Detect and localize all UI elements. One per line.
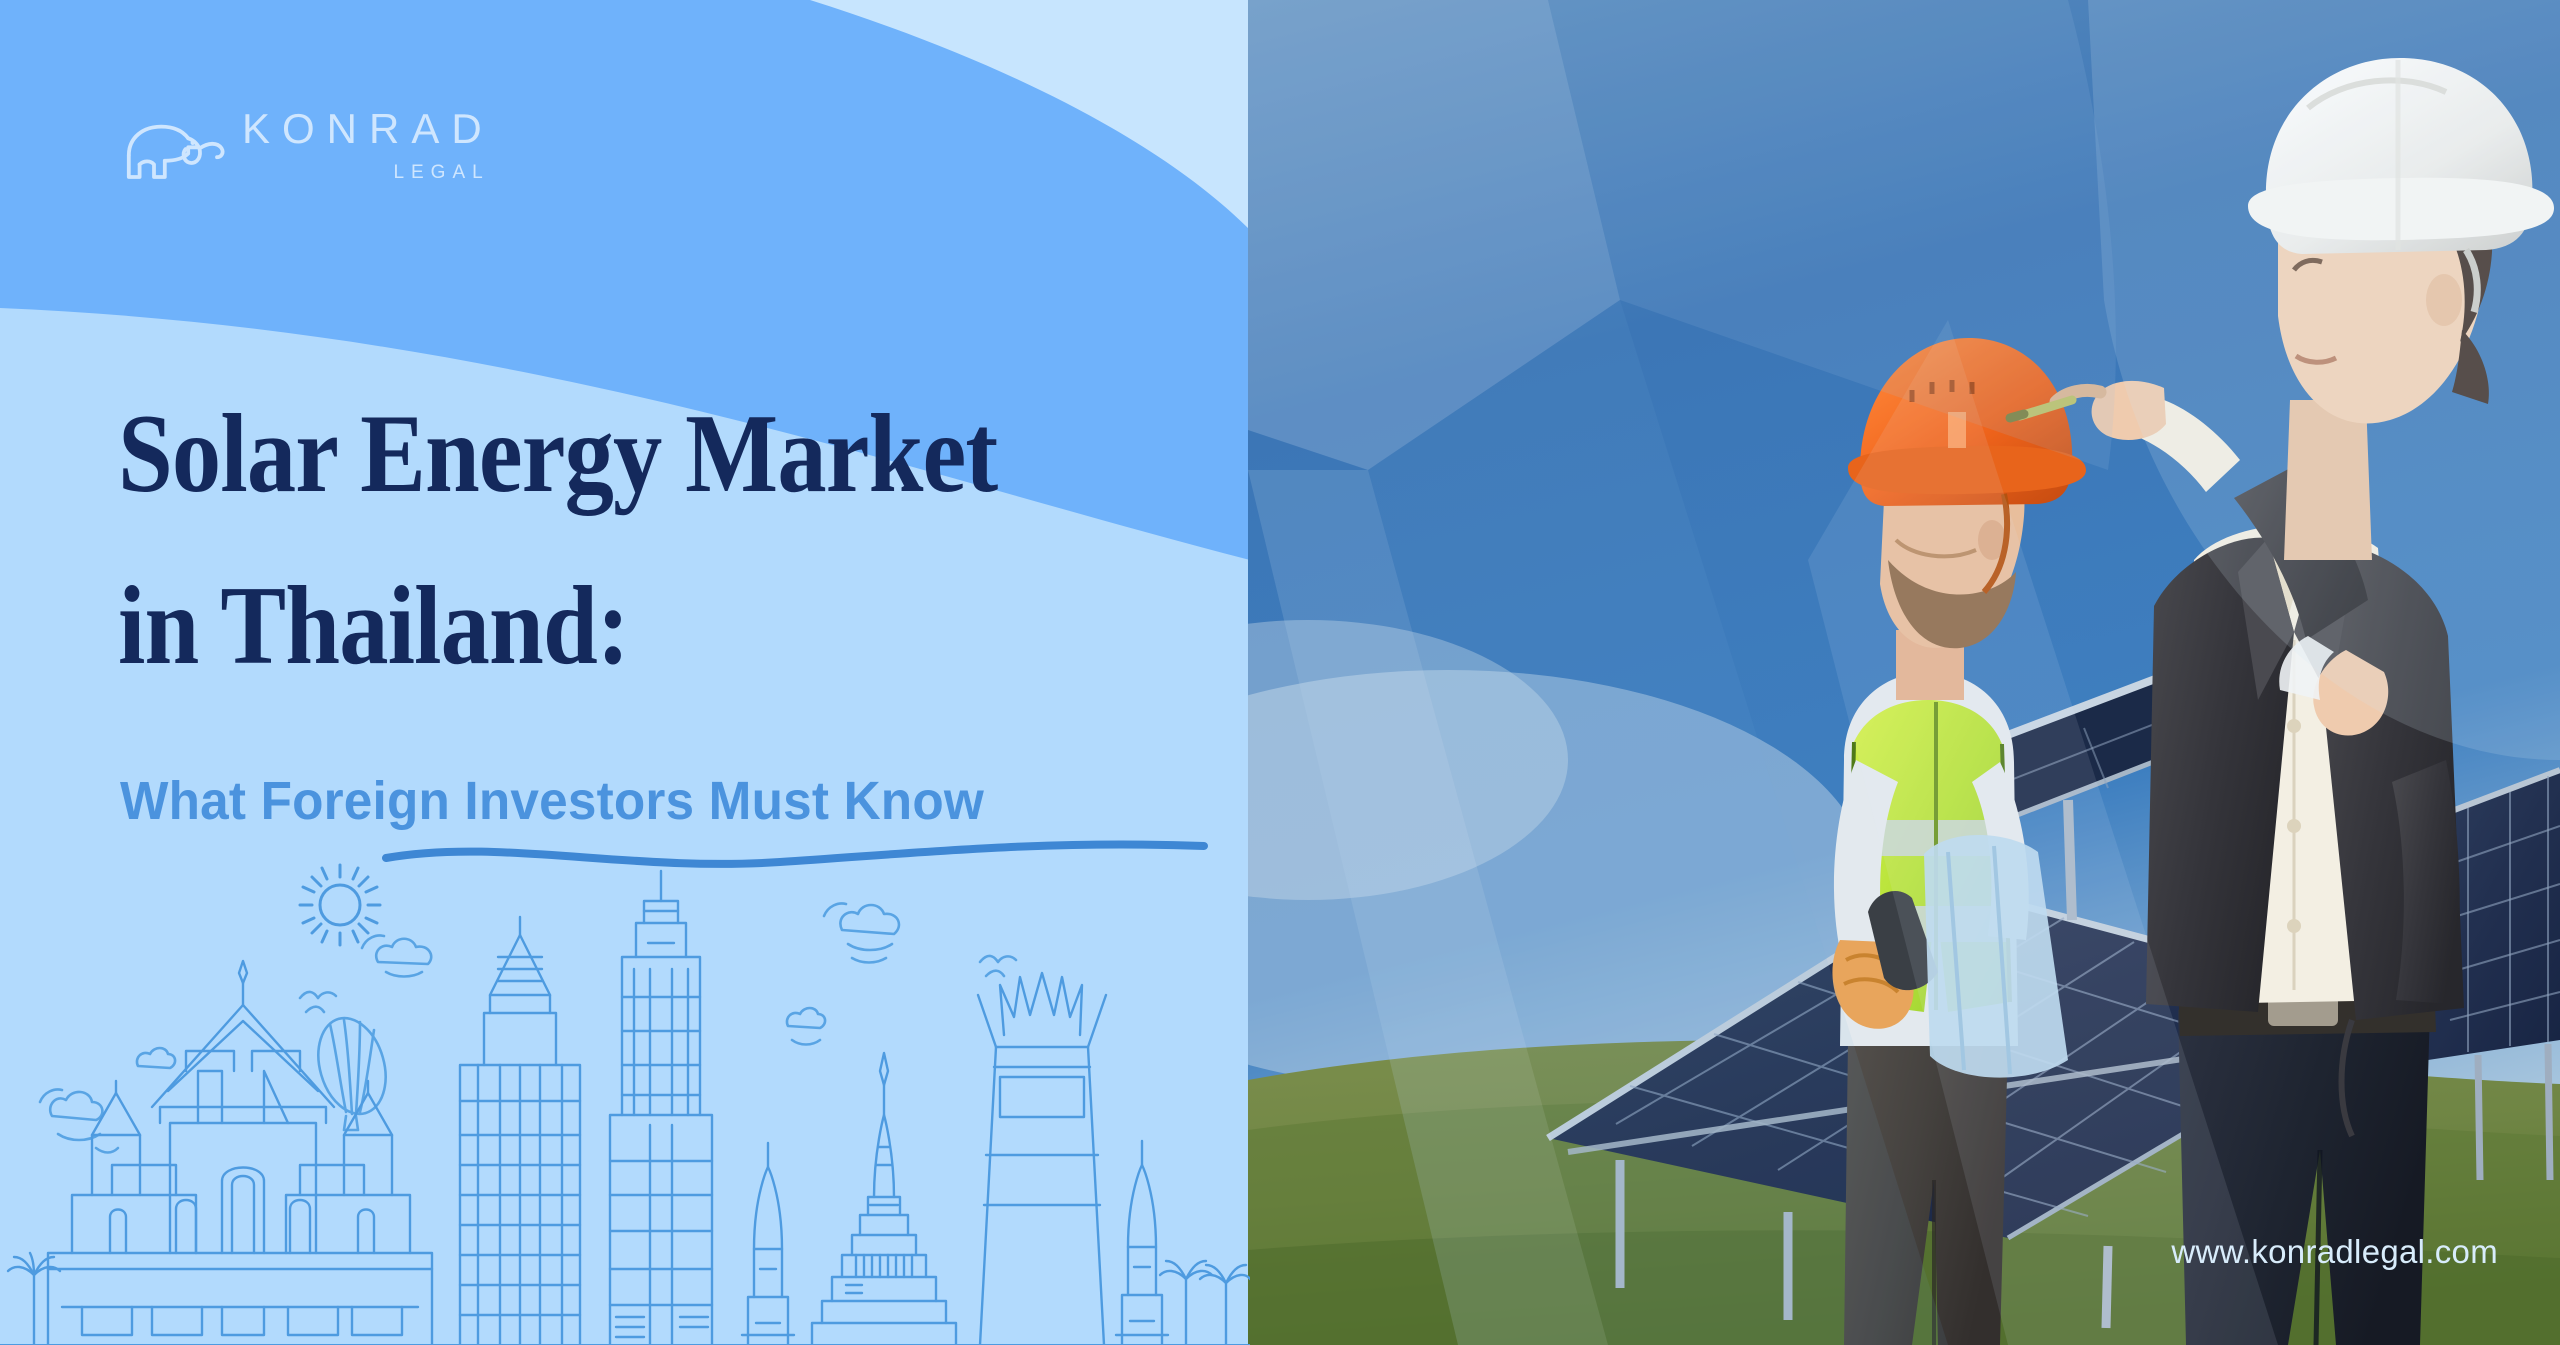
- bangkok-skyline-illustration: [0, 865, 1250, 1345]
- banner-root: KONRAD LEGAL Solar Energy Market in Thai…: [0, 0, 2560, 1345]
- page-subtitle-group: What Foreign Investors Must Know: [120, 770, 1170, 832]
- website-url[interactable]: www.konradlegal.com: [2171, 1233, 2498, 1271]
- palm-tree-icon: [1200, 1265, 1250, 1345]
- logo-wordmark: KONRAD LEGAL: [242, 108, 494, 188]
- sun-icon: [290, 855, 390, 955]
- logo-tagline: LEGAL: [242, 162, 494, 184]
- office-tower-icon: [460, 917, 580, 1345]
- page-subtitle: What Foreign Investors Must Know: [120, 770, 1118, 832]
- temple-spire-icon: [1116, 1141, 1168, 1345]
- golden-mount-chedi-icon: [812, 1053, 956, 1345]
- palm-tree-icon: [8, 1253, 60, 1345]
- marble-temple-icon: [48, 961, 432, 1345]
- mahanakhon-tower-icon: [610, 871, 712, 1345]
- palm-tree-icon: [1160, 1261, 1212, 1345]
- page-title: Solar Energy Market in Thailand:: [118, 398, 1178, 682]
- left-content-panel: KONRAD LEGAL Solar Energy Market in Thai…: [0, 0, 1250, 1345]
- brand-logo[interactable]: KONRAD LEGAL: [118, 108, 494, 188]
- giant-swing-icon: [978, 973, 1106, 1345]
- victory-monument-icon: [742, 1143, 794, 1345]
- page-title-line-2: in Thailand:: [118, 570, 1051, 682]
- hero-photo-illustration: [1248, 0, 2560, 1345]
- wavy-underline-icon: [380, 832, 1210, 876]
- hero-photo: www.konradlegal.com: [1248, 0, 2560, 1345]
- elephant-icon: [118, 112, 226, 188]
- page-title-line-1: Solar Energy Market: [118, 398, 1051, 510]
- logo-name: KONRAD: [242, 108, 494, 150]
